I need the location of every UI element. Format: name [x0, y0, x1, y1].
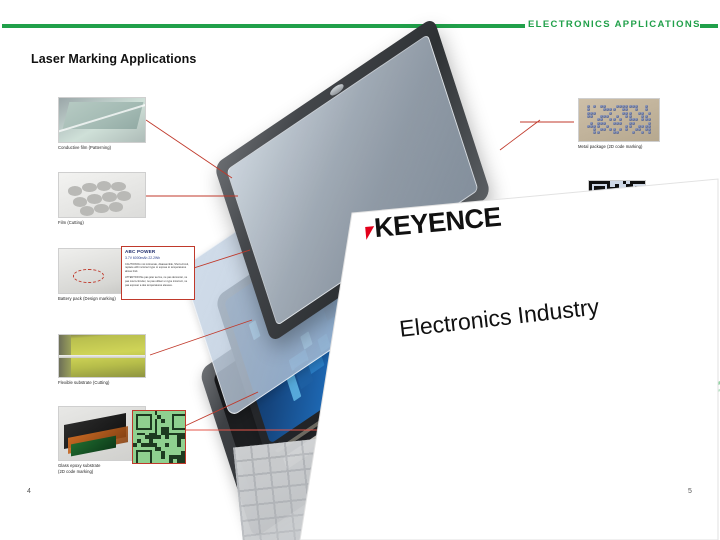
- slide-canvas: ELECTRONICS APPLICATIONS Laser Marking A…: [0, 0, 720, 540]
- page-number-right: 5: [688, 488, 692, 495]
- keyence-cover-card: [0, 0, 720, 540]
- page-number-left: 4: [27, 488, 31, 495]
